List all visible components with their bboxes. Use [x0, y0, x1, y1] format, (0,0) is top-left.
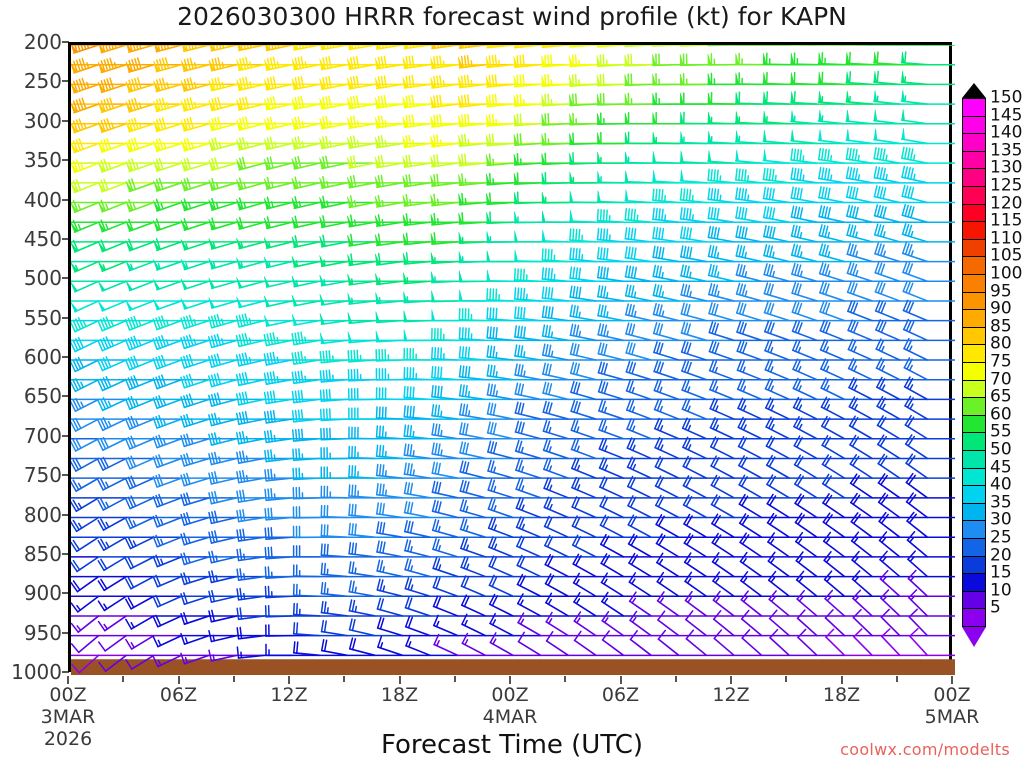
legend-label-135: 135	[990, 142, 1022, 159]
legend-swatch-45	[962, 468, 986, 487]
x-tick	[730, 676, 732, 684]
legend-swatch-35	[962, 503, 986, 522]
x-axis-label-0: 00Z	[49, 684, 86, 706]
y-axis-label-500: 500	[24, 268, 62, 288]
legend-swatch-85	[962, 327, 986, 346]
x-tick-minor	[122, 676, 124, 682]
x-axis-label-6: 12Z	[712, 684, 749, 706]
barb-row-375	[71, 166, 955, 192]
barb-row-350	[71, 147, 955, 172]
legend-swatch-55	[962, 432, 986, 451]
legend-label-35: 35	[990, 494, 1012, 511]
x-axis-label-8: 00Z	[933, 684, 970, 706]
y-axis-labels: 2002503003504004505005506006507007508008…	[0, 42, 62, 672]
legend-label-5: 5	[990, 600, 1001, 617]
y-axis-label-900: 900	[24, 583, 62, 603]
legend-label-25: 25	[990, 530, 1012, 547]
x-axis-date-8: 5MAR	[925, 706, 980, 728]
legend-swatch-5	[962, 608, 986, 627]
legend-swatch-50	[962, 450, 986, 469]
legend-swatch-135	[962, 151, 986, 170]
wind-barb-canvas	[71, 45, 955, 675]
legend-label-110: 110	[990, 230, 1022, 247]
legend-swatch-115	[962, 221, 986, 240]
y-axis-label-250: 250	[24, 71, 62, 91]
legend-swatch-30	[962, 520, 986, 539]
x-tick-minor	[896, 676, 898, 682]
legend-swatch-90	[962, 309, 986, 328]
legend-label-55: 55	[990, 424, 1012, 441]
x-tick	[67, 676, 69, 684]
barb-row-200	[71, 45, 955, 53]
legend-swatch-105	[962, 256, 986, 275]
barb-row-400	[71, 186, 955, 213]
y-axis-label-1000: 1000	[11, 662, 62, 682]
legend-swatch-75	[962, 362, 986, 381]
legend-swatch-100	[962, 274, 986, 293]
legend-swatch-95	[962, 292, 986, 311]
y-axis-label-950: 950	[24, 623, 62, 643]
legend-label-120: 120	[990, 195, 1022, 212]
x-tick-minor	[343, 676, 345, 682]
legend-label-75: 75	[990, 354, 1012, 371]
legend-label-50: 50	[990, 442, 1012, 459]
legend-swatch-80	[962, 344, 986, 363]
x-tick-minor	[564, 676, 566, 682]
legend-label-140: 140	[990, 125, 1022, 142]
legend-swatch-130	[962, 168, 986, 187]
barb-row-425	[71, 205, 955, 232]
legend-label-100: 100	[990, 266, 1022, 283]
x-axis-label-2: 12Z	[270, 684, 307, 706]
y-axis-label-800: 800	[24, 505, 62, 525]
legend-label-145: 145	[990, 107, 1022, 124]
legend-label-10: 10	[990, 582, 1012, 599]
legend-label-90: 90	[990, 301, 1012, 318]
legend-label-105: 105	[990, 248, 1022, 265]
x-axis-label-7: 18Z	[823, 684, 860, 706]
legend-swatch-25	[962, 538, 986, 557]
credit-link[interactable]: coolwx.com/modelts	[840, 740, 1010, 759]
x-axis-label-4: 00Z	[491, 684, 528, 706]
legend-swatch-70	[962, 380, 986, 399]
page-title: 2026030300 HRRR forecast wind profile (k…	[0, 2, 1024, 31]
x-tick-minor	[785, 676, 787, 682]
legend-label-70: 70	[990, 371, 1012, 388]
legend-swatch-120	[962, 204, 986, 223]
barb-row-300	[71, 109, 955, 132]
legend-label-20: 20	[990, 547, 1012, 564]
wind-profile-plot[interactable]	[68, 42, 952, 672]
x-tick	[951, 676, 953, 684]
y-axis-label-650: 650	[24, 386, 62, 406]
x-tick	[841, 676, 843, 684]
barb-row-275	[71, 90, 955, 113]
legend-label-60: 60	[990, 406, 1012, 423]
y-axis-label-700: 700	[24, 426, 62, 446]
legend-label-130: 130	[990, 160, 1022, 177]
legend-label-80: 80	[990, 336, 1012, 353]
legend-label-45: 45	[990, 459, 1012, 476]
legend-label-95: 95	[990, 283, 1012, 300]
barb-row-325	[71, 128, 955, 152]
y-axis-label-300: 300	[24, 111, 62, 131]
y-axis-label-200: 200	[24, 32, 62, 52]
x-tick	[509, 676, 511, 684]
legend-swatch-60	[962, 415, 986, 434]
legend-swatch-150	[962, 98, 986, 117]
y-axis-label-550: 550	[24, 308, 62, 328]
legend-label-40: 40	[990, 477, 1012, 494]
legend-swatch-15	[962, 573, 986, 592]
legend-label-150: 150	[990, 90, 1022, 107]
y-axis-label-450: 450	[24, 229, 62, 249]
x-axis-date-4: 4MAR	[483, 706, 538, 728]
barb-row-450	[71, 224, 955, 252]
x-tick	[399, 676, 401, 684]
y-axis-label-750: 750	[24, 465, 62, 485]
legend-label-125: 125	[990, 178, 1022, 195]
legend-swatch-140	[962, 133, 986, 152]
barb-row-250	[71, 71, 955, 93]
x-axis-label-1: 06Z	[160, 684, 197, 706]
x-tick	[620, 676, 622, 684]
x-axis-label-5: 06Z	[602, 684, 639, 706]
x-tick-minor	[675, 676, 677, 682]
y-axis-label-600: 600	[24, 347, 62, 367]
legend-swatch-40	[962, 485, 986, 504]
x-tick	[288, 676, 290, 684]
legend-swatch-145	[962, 116, 986, 135]
legend-swatch-65	[962, 397, 986, 416]
x-tick-minor	[233, 676, 235, 682]
legend-swatch-20	[962, 556, 986, 575]
barb-row-225	[71, 52, 955, 73]
barb-row-475	[71, 243, 955, 272]
y-axis-label-400: 400	[24, 190, 62, 210]
legend-label-115: 115	[990, 213, 1022, 230]
x-axis-label-3: 18Z	[381, 684, 418, 706]
legend-swatch-125	[962, 186, 986, 205]
legend-label-65: 65	[990, 389, 1012, 406]
legend-label-85: 85	[990, 318, 1012, 335]
legend-label-30: 30	[990, 512, 1012, 529]
legend-swatch-110	[962, 239, 986, 258]
legend-bottom-arrow-icon	[962, 627, 986, 647]
legend-label-15: 15	[990, 565, 1012, 582]
legend-top-arrow-icon	[962, 83, 986, 98]
x-tick-minor	[454, 676, 456, 682]
color-legend: 1501451401351301251201151101051009590858…	[958, 82, 1024, 662]
legend-swatch-10	[962, 591, 986, 610]
x-axis-date-0: 3MAR	[41, 706, 96, 728]
y-axis-label-850: 850	[24, 544, 62, 564]
y-axis-label-350: 350	[24, 150, 62, 170]
x-tick	[178, 676, 180, 684]
